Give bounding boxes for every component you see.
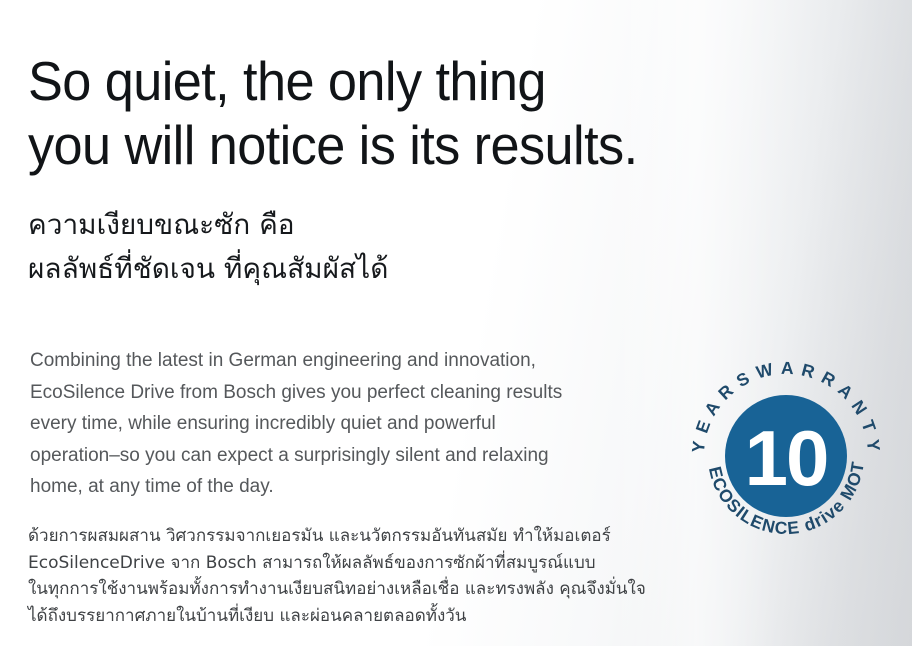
badge-number: 10 bbox=[745, 414, 828, 502]
page-subheadline-thai: ความเงียบขณะซัก คือ ผลลัพธ์ที่ชัดเจน ที่… bbox=[28, 203, 728, 291]
body-paragraph-thai: ด้วยการผสมผสาน วิศวกรรมจากเยอรมัน และนวั… bbox=[28, 523, 718, 629]
body-paragraph-english: Combining the latest in German engineeri… bbox=[30, 345, 680, 503]
page-headline: So quiet, the only thing you will notice… bbox=[28, 49, 836, 177]
warranty-badge: · Y E A R S W A R R A N T Y · ON ECOSILE… bbox=[688, 358, 884, 554]
marketing-page: So quiet, the only thing you will notice… bbox=[0, 0, 912, 646]
